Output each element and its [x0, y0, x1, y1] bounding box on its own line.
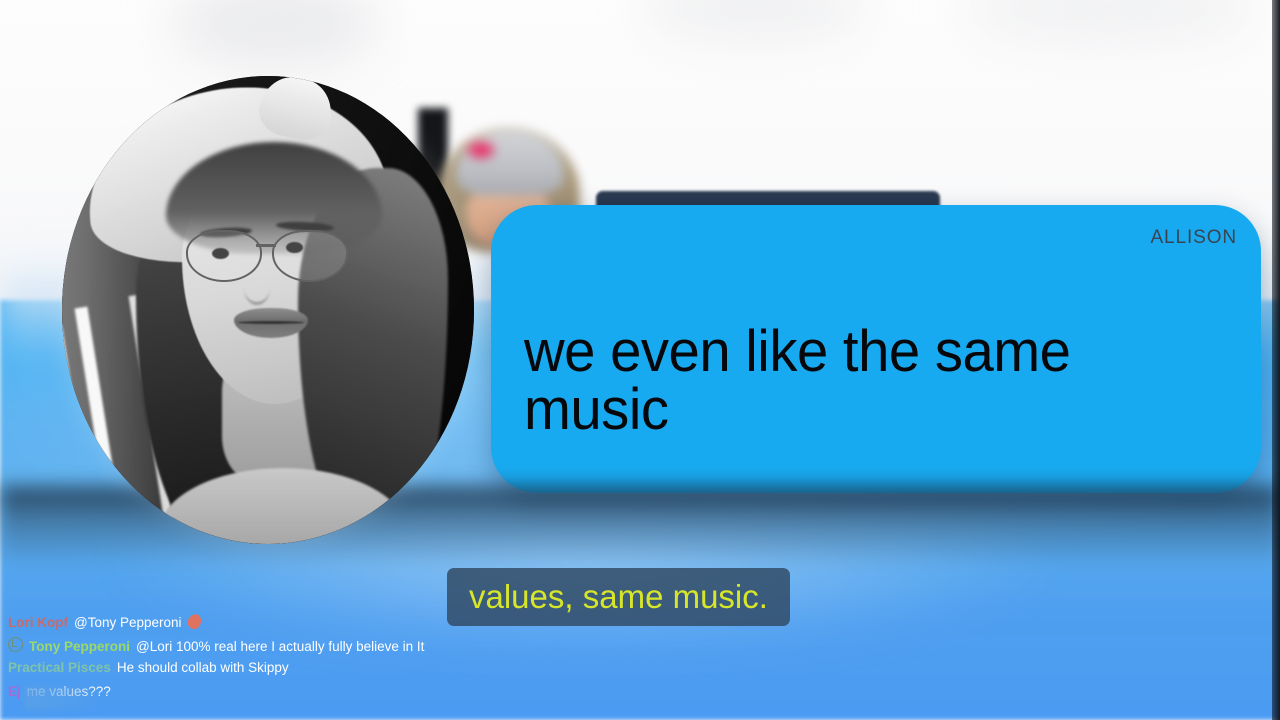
glasses-lens-right [272, 230, 348, 282]
chat-message[interactable]: Practical Pisces He should collab with S… [8, 660, 548, 684]
message-text: we even like the same music [524, 323, 1203, 439]
chat-text: me values??? [27, 684, 111, 699]
avatar [62, 76, 474, 544]
frame-right-edge [1272, 0, 1280, 720]
chat-author[interactable]: Practical Pisces [8, 660, 111, 675]
avatar-lip-line [238, 321, 304, 324]
chat-message[interactable]: Lori Kopf @Tony Pepperoni [8, 612, 548, 636]
chat-text: @Lori 100% real here I actually fully be… [136, 639, 424, 654]
chat-message[interactable]: Ej me values??? [8, 684, 548, 708]
message-bubble: ALLISON we even like the same music [491, 205, 1261, 493]
message-sender-label: ALLISON [1150, 227, 1237, 249]
avatar-portrait [62, 76, 474, 544]
chat-author[interactable]: Tony Pepperoni [29, 639, 130, 654]
glasses-bridge [256, 244, 276, 247]
avatar-nose [244, 272, 270, 305]
member-badge-icon [8, 637, 23, 652]
caption-text: values, same music. [469, 578, 768, 616]
avatar-glasses [186, 226, 366, 282]
chat-message[interactable]: Tony Pepperoni @Lori 100% real here I ac… [8, 636, 548, 660]
chat-text: @Tony Pepperoni [74, 615, 182, 630]
chat-text: He should collab with Skippy [117, 660, 289, 675]
pepperoni-emoji [185, 612, 203, 631]
video-frame: ALLISON we even like the same music [0, 0, 1280, 720]
chat-author[interactable]: Ej [8, 684, 21, 699]
live-chat-overlay: Lori Kopf @Tony Pepperoni Tony Pepperoni… [8, 612, 548, 708]
chat-author[interactable]: Lori Kopf [8, 615, 68, 630]
